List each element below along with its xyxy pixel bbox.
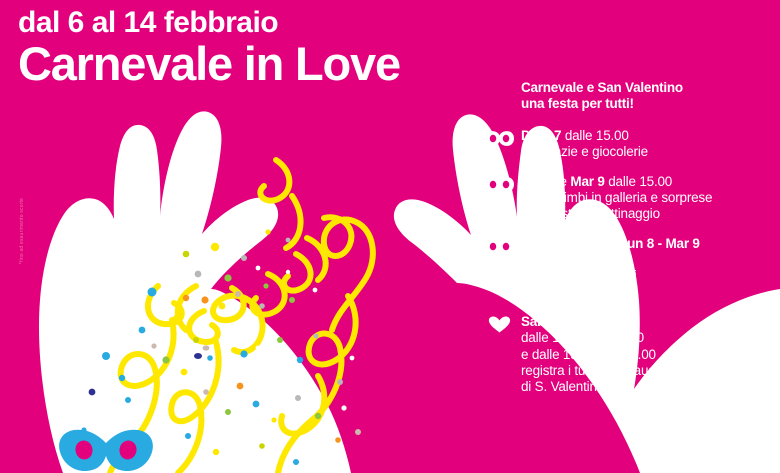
event-conjunction: e [563, 314, 577, 329]
event-detail-line: di Carnevale* [521, 284, 776, 300]
event-detail-line: dalle 11.00 alle 13.00 [521, 330, 776, 346]
event-date: Sab 13 [521, 314, 563, 329]
carnival-mask-icon [484, 130, 515, 147]
event-detail-line: sulla pista di pattinaggio [521, 206, 776, 222]
event-detail-line: di S. Valentino [521, 379, 776, 395]
poster-canvas: dal 6 al 14 febbraio Carnevale in Love *… [0, 0, 780, 473]
event-date-2: Mar 9 [570, 174, 604, 189]
event-time: dalle 15.00 [605, 174, 672, 189]
event-item: Sab 13 e Dom 14 dalle 11.00 alle 13.00 e… [484, 314, 776, 394]
event-line-primary: Sab 13 e Dom 14 [521, 314, 776, 330]
event-date: Dom 7 [521, 128, 561, 143]
event-item: Dom 7 dalle 15.00 acrobazie e giocolerie [484, 128, 776, 160]
info-heading-line2: una festa per tutti! [521, 96, 776, 112]
info-heading-line1: Carnevale e San Valentino [521, 80, 776, 96]
headline-kicker: dal 6 al 14 febbraio [18, 8, 488, 38]
event-detail-line: e dalle 15.00 alle 19.00 [521, 347, 776, 363]
event-detail-line: truccabimbi in galleria e sorprese [521, 190, 776, 206]
event-detail-line: registra i tuoi video auguri [521, 363, 776, 379]
page-title: Carnevale in Love [18, 40, 488, 87]
event-text: Lun 8 e Mar 9 dalle 15.00 truccabimbi in… [521, 174, 776, 222]
event-line-primary: Sab 6 - Dom 7 - Lun 8 - Mar 9 [521, 236, 776, 252]
event-text: Dom 7 dalle 15.00 acrobazie e giocolerie [521, 128, 776, 160]
event-detail-line: golose degustazioni [521, 268, 776, 284]
carnival-mask-icon [484, 238, 515, 255]
vertical-footnote: *fino ad esaurimento scorte [19, 176, 25, 286]
event-detail-line: acrobazie e giocolerie [521, 144, 776, 160]
event-conjunction: e [556, 174, 570, 189]
event-item: Lun 8 e Mar 9 dalle 15.00 truccabimbi in… [484, 174, 776, 222]
event-line-primary: Lun 8 e Mar 9 dalle 15.00 [521, 174, 776, 190]
headline-block: dal 6 al 14 febbraio Carnevale in Love [18, 8, 488, 87]
info-heading: Carnevale e San Valentino una festa per … [521, 80, 776, 112]
events-info-panel: Carnevale e San Valentino una festa per … [484, 80, 776, 395]
event-date: Sab 6 - Dom 7 - Lun 8 - Mar 9 [521, 236, 700, 251]
event-line-primary: Dom 7 dalle 15.00 [521, 128, 776, 144]
event-text: Sab 6 - Dom 7 - Lun 8 - Mar 9 dalle 15.0… [521, 236, 776, 300]
event-item: Sab 6 - Dom 7 - Lun 8 - Mar 9 dalle 15.0… [484, 236, 776, 300]
event-date-2: Dom 14 [578, 314, 626, 329]
event-date: Lun 8 [521, 174, 556, 189]
event-text: Sab 13 e Dom 14 dalle 11.00 alle 13.00 e… [521, 314, 776, 394]
event-detail-line: dalle 15.00 [521, 252, 776, 268]
heart-icon [484, 316, 515, 333]
event-time: dalle 15.00 [561, 128, 628, 143]
carnival-mask-icon [484, 176, 515, 193]
